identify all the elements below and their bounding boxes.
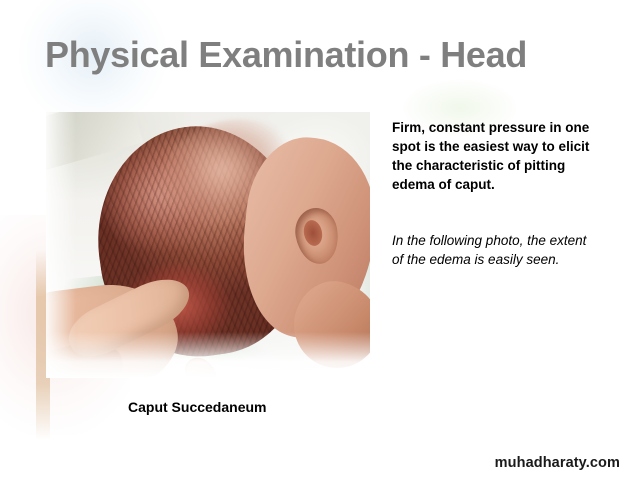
photo-caption: Caput Succedaneum [128, 399, 266, 415]
photo-background [46, 112, 370, 378]
slide-title: Physical Examination - Head [45, 34, 527, 76]
slide-canvas: Physical Examination - Head [0, 0, 638, 479]
clinical-photo [46, 112, 370, 378]
footer-watermark: muhadharaty.com [495, 455, 620, 471]
body-paragraph-italic: In the following photo, the extent of th… [392, 194, 592, 269]
body-paragraph-bold: Firm, constant pressure in one spot is t… [392, 118, 592, 194]
photo-edge-fade-bottom [46, 332, 370, 378]
body-text-column: Firm, constant pressure in one spot is t… [392, 118, 592, 269]
